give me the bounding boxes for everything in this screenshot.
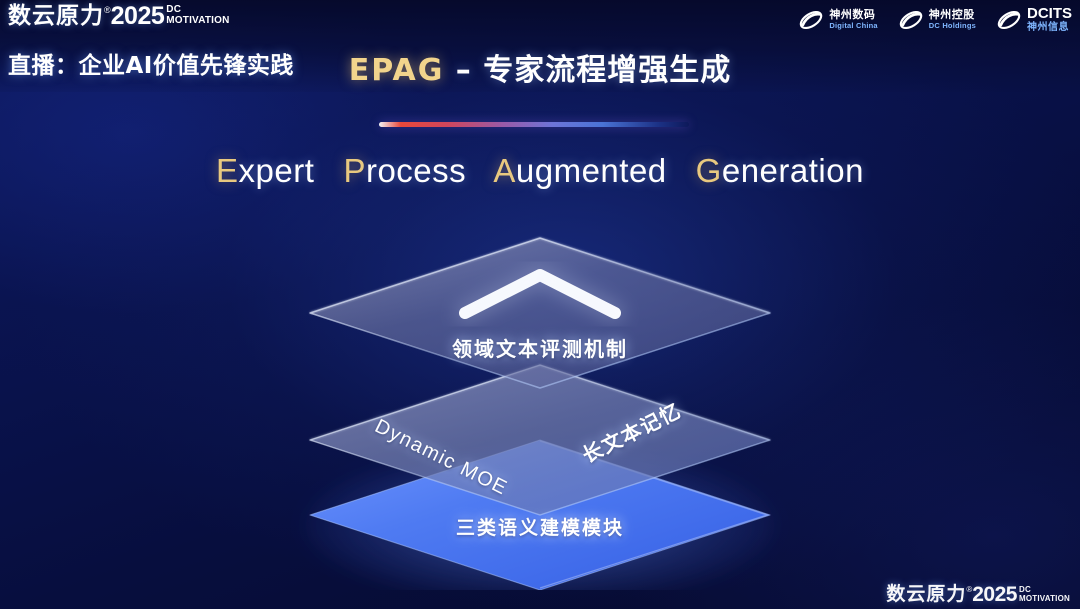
subtitle-word-augmented: Augmented bbox=[493, 152, 666, 189]
brand-year: 2025 bbox=[111, 3, 165, 29]
footer-motivation-label: MOTIVATION bbox=[1019, 594, 1070, 603]
partner-logo-group: 神州数码 Digital China 神州控股 DC Holdings bbox=[798, 6, 1072, 33]
partner-logo-dcits: DCITS 神州信息 bbox=[996, 6, 1072, 33]
swoosh-icon bbox=[798, 7, 824, 33]
subtitle-word-expert: Expert bbox=[216, 152, 314, 189]
footer-dc-label: DC bbox=[1019, 586, 1070, 594]
brand-motivation-label: MOTIVATION bbox=[166, 15, 229, 26]
partner-label-group: 神州数码 Digital China bbox=[829, 9, 877, 30]
brand-dc-label: DC bbox=[166, 5, 229, 15]
brand-logo: 数云原力 ® 2025 DC MOTIVATION bbox=[8, 3, 230, 29]
swoosh-icon bbox=[898, 7, 924, 33]
title-divider bbox=[379, 122, 689, 127]
partner-logo-digital-china: 神州数码 Digital China bbox=[798, 7, 877, 33]
partner-label-group: DCITS 神州信息 bbox=[1027, 6, 1072, 33]
brand-dc-motivation: DC MOTIVATION bbox=[164, 3, 229, 26]
brand-registered-mark: ® bbox=[104, 3, 111, 15]
partner-name-cn: 神州控股 bbox=[929, 9, 976, 21]
partner-name-en: 神州信息 bbox=[1027, 22, 1072, 33]
subtitle-space bbox=[476, 152, 486, 189]
layer-top bbox=[310, 238, 770, 388]
footer-watermark: 数云原力 ® 2025 DC MOTIVATION bbox=[886, 584, 1070, 605]
title-acronym: EPAG bbox=[349, 53, 445, 88]
partner-label-group: 神州控股 DC Holdings bbox=[929, 9, 976, 30]
footer-brand-year: 2025 bbox=[972, 584, 1017, 605]
partner-name-cn: 神州数码 bbox=[829, 9, 877, 21]
partner-name-en: Digital China bbox=[829, 21, 877, 30]
page-subtitle: Expert Process Augmented Generation bbox=[0, 150, 1080, 192]
partner-name-cn: DCITS bbox=[1027, 6, 1072, 22]
title-chinese: 专家流程增强生成 bbox=[483, 53, 731, 88]
footer-brand-name-cn: 数云原力 bbox=[886, 584, 966, 605]
subtitle-space bbox=[324, 152, 334, 189]
partner-name-en: DC Holdings bbox=[929, 21, 976, 30]
swoosh-icon bbox=[996, 7, 1022, 33]
live-stream-banner: 直播：企业AI价值先锋实践 bbox=[8, 46, 294, 80]
title-dash: – bbox=[444, 53, 483, 88]
layered-architecture-diagram bbox=[275, 225, 805, 590]
subtitle-word-generation: Generation bbox=[696, 152, 864, 189]
partner-logo-dc-holdings: 神州控股 DC Holdings bbox=[898, 7, 976, 33]
brand-name-cn: 数云原力 bbox=[8, 3, 104, 29]
subtitle-space bbox=[676, 152, 686, 189]
footer-dc-motivation: DC MOTIVATION bbox=[1017, 584, 1070, 603]
subtitle-word-process: Process bbox=[343, 152, 466, 189]
presentation-slide: 数云原力 ® 2025 DC MOTIVATION 直播：企业AI价值先锋实践 … bbox=[0, 0, 1080, 609]
